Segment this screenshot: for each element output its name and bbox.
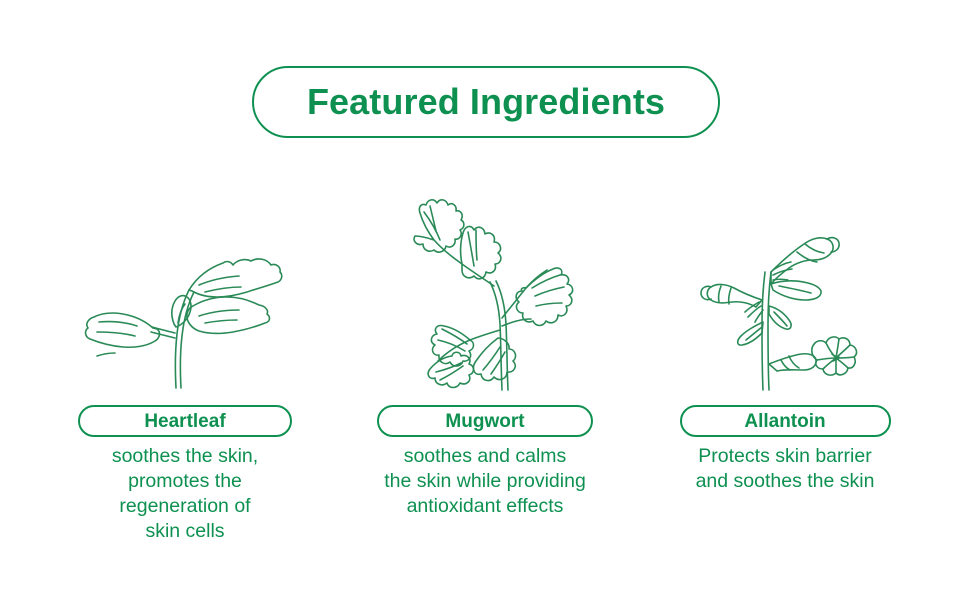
ingredient-card-allantoin: Allantoin Protects skin barrier and soot… [640,180,930,494]
ingredient-label: Heartleaf [144,412,225,431]
comfrey-flower-icon [693,180,878,395]
ingredient-card-mugwort: Mugwort soothes and calms the skin while… [340,180,630,519]
ingredient-label-pill-allantoin: Allantoin [680,405,891,437]
ingredient-description: soothes the skin, promotes the regenerat… [112,444,258,544]
ingredient-label: Allantoin [744,412,825,431]
ingredient-description: Protects skin barrier and soothes the sk… [696,444,875,494]
ingredient-columns: Heartleaf soothes the skin, promotes the… [0,180,970,580]
heartleaf-plant-icon [75,180,295,395]
page-title-pill: Featured Ingredients [252,66,720,138]
ingredient-label-pill-heartleaf: Heartleaf [78,405,292,437]
ingredient-label: Mugwort [445,412,524,431]
featured-ingredients-panel: Featured Ingredients [0,0,970,600]
mugwort-plant-icon [390,180,580,395]
ingredient-label-pill-mugwort: Mugwort [377,405,593,437]
ingredient-card-heartleaf: Heartleaf soothes the skin, promotes the… [40,180,330,544]
page-title: Featured Ingredients [307,84,665,120]
ingredient-description: soothes and calms the skin while providi… [384,444,586,519]
